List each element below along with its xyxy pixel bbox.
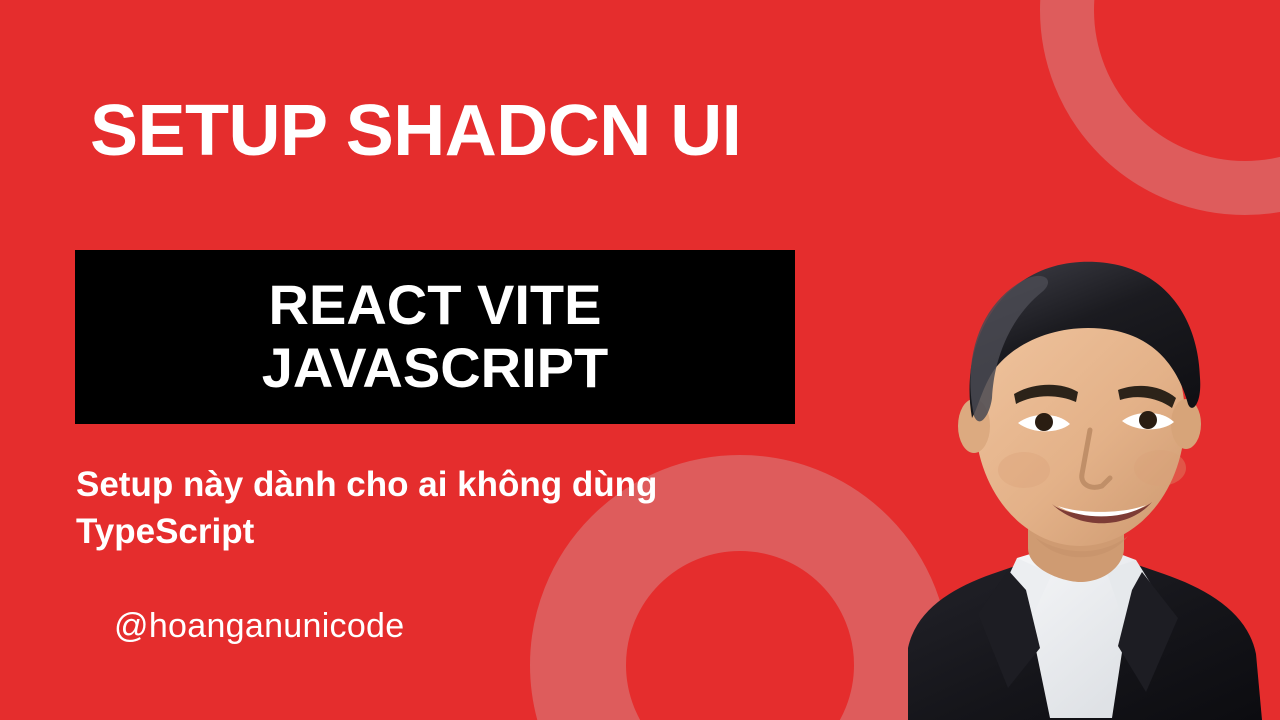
page-title: SETUP SHADCN UI — [90, 95, 741, 167]
callout-line-2: JAVASCRIPT — [262, 337, 608, 400]
ring-top-right-decoration — [1040, 0, 1280, 215]
subtitle-text: Setup này dành cho ai không dùng TypeScr… — [76, 462, 776, 555]
callout-box: REACT VITE JAVASCRIPT — [75, 250, 795, 424]
social-handle: @hoanganunicode — [114, 606, 404, 647]
portrait-illustration — [812, 218, 1280, 720]
thumbnail-canvas: SETUP SHADCN UI REACT VITE JAVASCRIPT Se… — [0, 0, 1280, 720]
callout-line-1: REACT VITE — [269, 274, 602, 337]
portrait-photo — [812, 218, 1280, 720]
